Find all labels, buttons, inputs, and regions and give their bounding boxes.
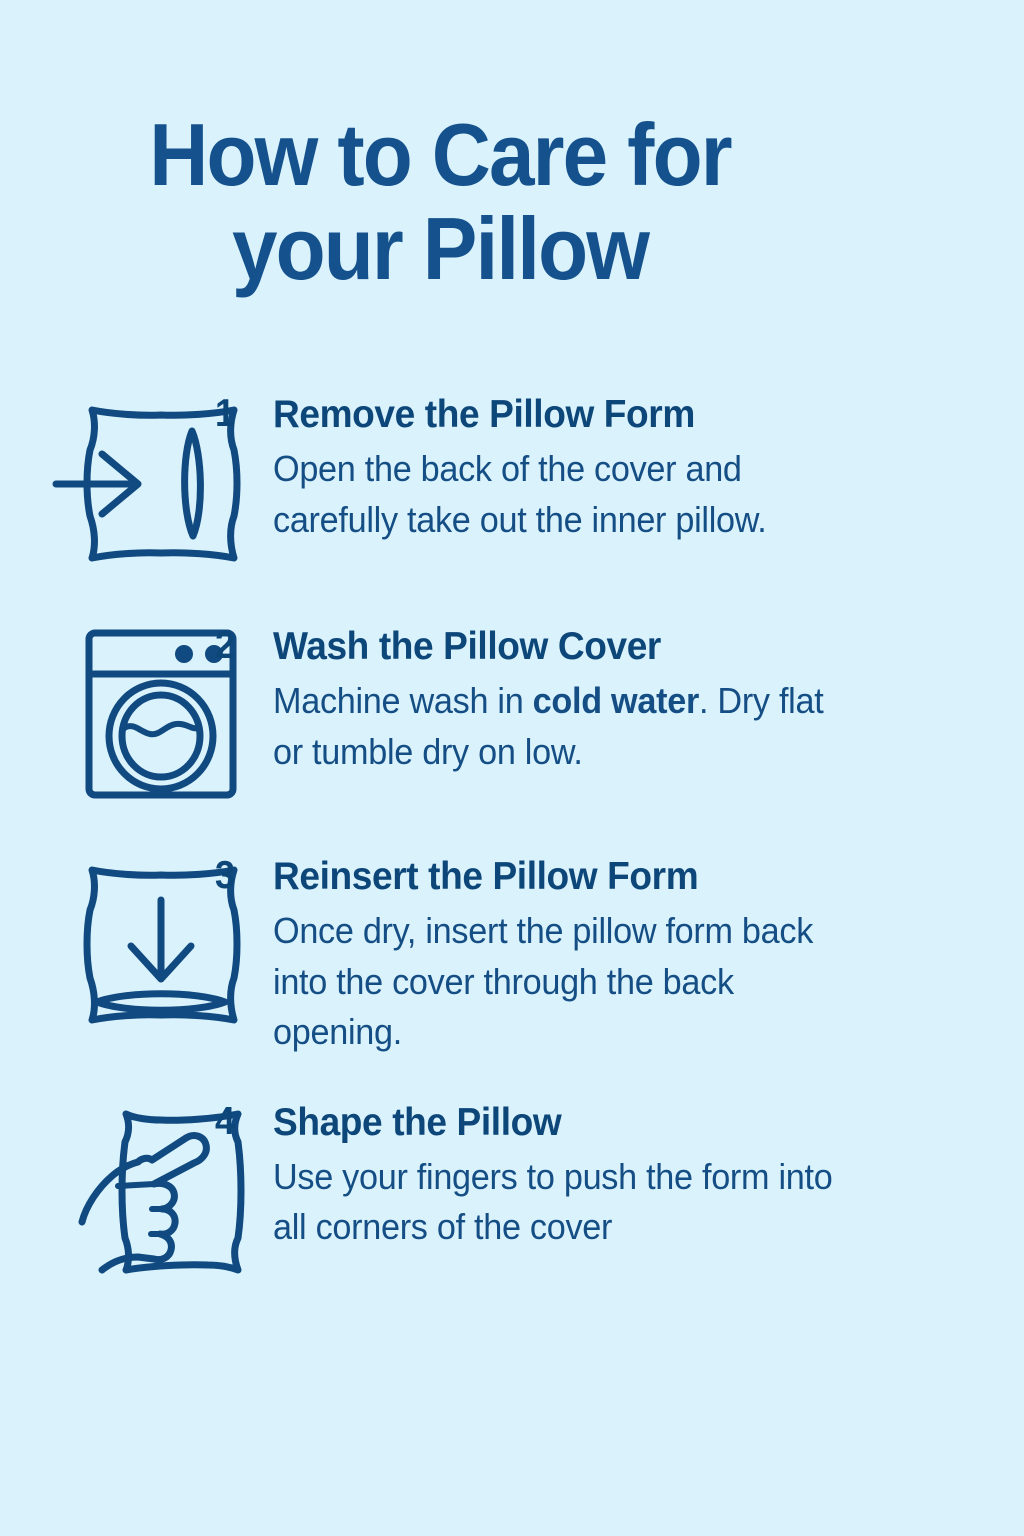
step-3-text: Reinsert the Pillow Form Once dry, inser… [273, 856, 1024, 1058]
step-3-icon-wrap [0, 854, 215, 1034]
step-1-text: Remove the Pillow Form Open the back of … [273, 394, 1024, 545]
step-2-text: Wash the Pillow Cover Machine wash in co… [273, 626, 1024, 777]
page-title-line-2: your Pillow [31, 202, 849, 296]
step-4-desc-part1: Use your fingers to push the form into a… [273, 1156, 832, 1247]
pillow-care-infographic: How to Care for your Pillow 1 Re [0, 0, 1024, 1536]
step-3-description: Once dry, insert the pillow form back in… [273, 906, 834, 1057]
page-title-line-1: How to Care for [31, 108, 849, 202]
steps-list: 1 Remove the Pillow Form Open the back o… [0, 392, 1024, 1280]
step-1-body: 1 Remove the Pillow Form Open the back o… [215, 392, 1024, 545]
step-2-icon-wrap [0, 624, 215, 804]
step-3-heading: Reinsert the Pillow Form [273, 856, 986, 897]
step-1-heading: Remove the Pillow Form [273, 394, 986, 435]
step-4-heading: Shape the Pillow [273, 1102, 986, 1143]
step-4-text: Shape the Pillow Use your fingers to pus… [273, 1102, 1024, 1253]
step-4-body: 4 Shape the Pillow Use your fingers to p… [215, 1100, 1024, 1253]
step-2-desc-part1: Machine wash in [273, 680, 533, 721]
page-title: How to Care for your Pillow [0, 108, 880, 296]
step-2-desc-bold: cold water [533, 680, 699, 721]
step-4-icon-wrap [0, 1100, 215, 1280]
step-1-description: Open the back of the cover and carefully… [273, 444, 834, 545]
step-1-desc-part1: Open the back of the cover and carefully… [273, 448, 767, 539]
step-item-4: 4 Shape the Pillow Use your fingers to p… [0, 1100, 1024, 1280]
step-2-number: 2 [215, 626, 268, 667]
step-item-2: 2 Wash the Pillow Cover Machine wash in … [0, 624, 1024, 804]
step-4-description: Use your fingers to push the form into a… [273, 1152, 834, 1253]
step-4-number: 4 [215, 1102, 268, 1143]
step-2-body: 2 Wash the Pillow Cover Machine wash in … [215, 624, 1024, 777]
step-1-icon-wrap [0, 392, 215, 572]
step-3-desc-part1: Once dry, insert the pillow form back in… [273, 910, 813, 1052]
step-item-3: 3 Reinsert the Pillow Form Once dry, ins… [0, 854, 1024, 1058]
step-2-heading: Wash the Pillow Cover [273, 626, 986, 667]
step-item-1: 1 Remove the Pillow Form Open the back o… [0, 392, 1024, 572]
step-1-number: 1 [215, 394, 268, 435]
step-2-description: Machine wash in cold water. Dry flat or … [273, 676, 834, 777]
step-3-number: 3 [215, 856, 268, 897]
step-3-body: 3 Reinsert the Pillow Form Once dry, ins… [215, 854, 1024, 1058]
